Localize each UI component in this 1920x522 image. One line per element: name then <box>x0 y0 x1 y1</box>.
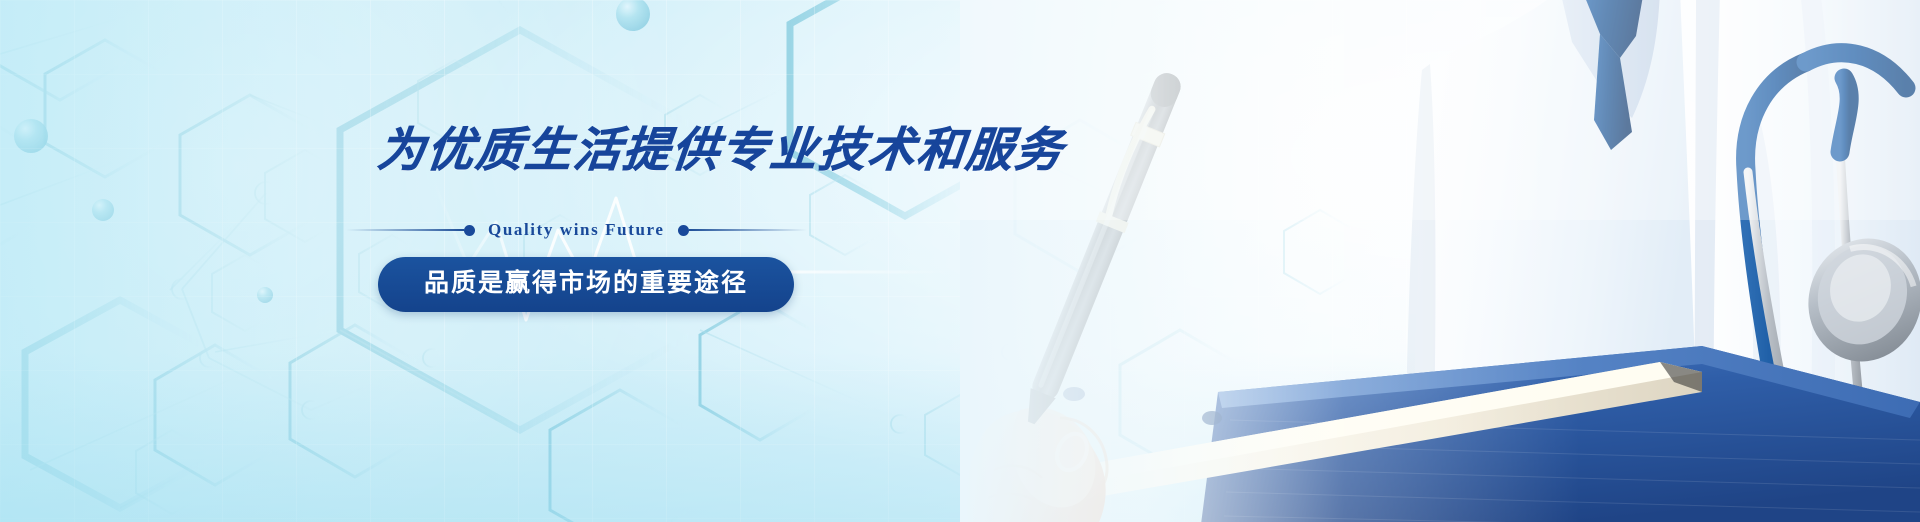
hero-banner: 为优质生活提供专业技术和服务 Quality wins Future 品质是赢得… <box>0 0 1920 522</box>
divider-dot-left <box>464 225 475 236</box>
tagline-english: Quality wins Future <box>475 220 678 240</box>
divider-rule-right <box>689 229 807 231</box>
divider-rule-left <box>346 229 464 231</box>
slogan-pill-button[interactable]: 品质是赢得市场的重要途径 <box>378 257 794 312</box>
divider-dot-right <box>678 225 689 236</box>
hero-text-block: 为优质生活提供专业技术和服务 Quality wins Future 品质是赢得… <box>378 126 978 312</box>
page-title: 为优质生活提供专业技术和服务 <box>376 126 981 173</box>
bottom-tint-decor <box>0 352 1920 522</box>
tagline-divider: Quality wins Future <box>346 220 846 240</box>
